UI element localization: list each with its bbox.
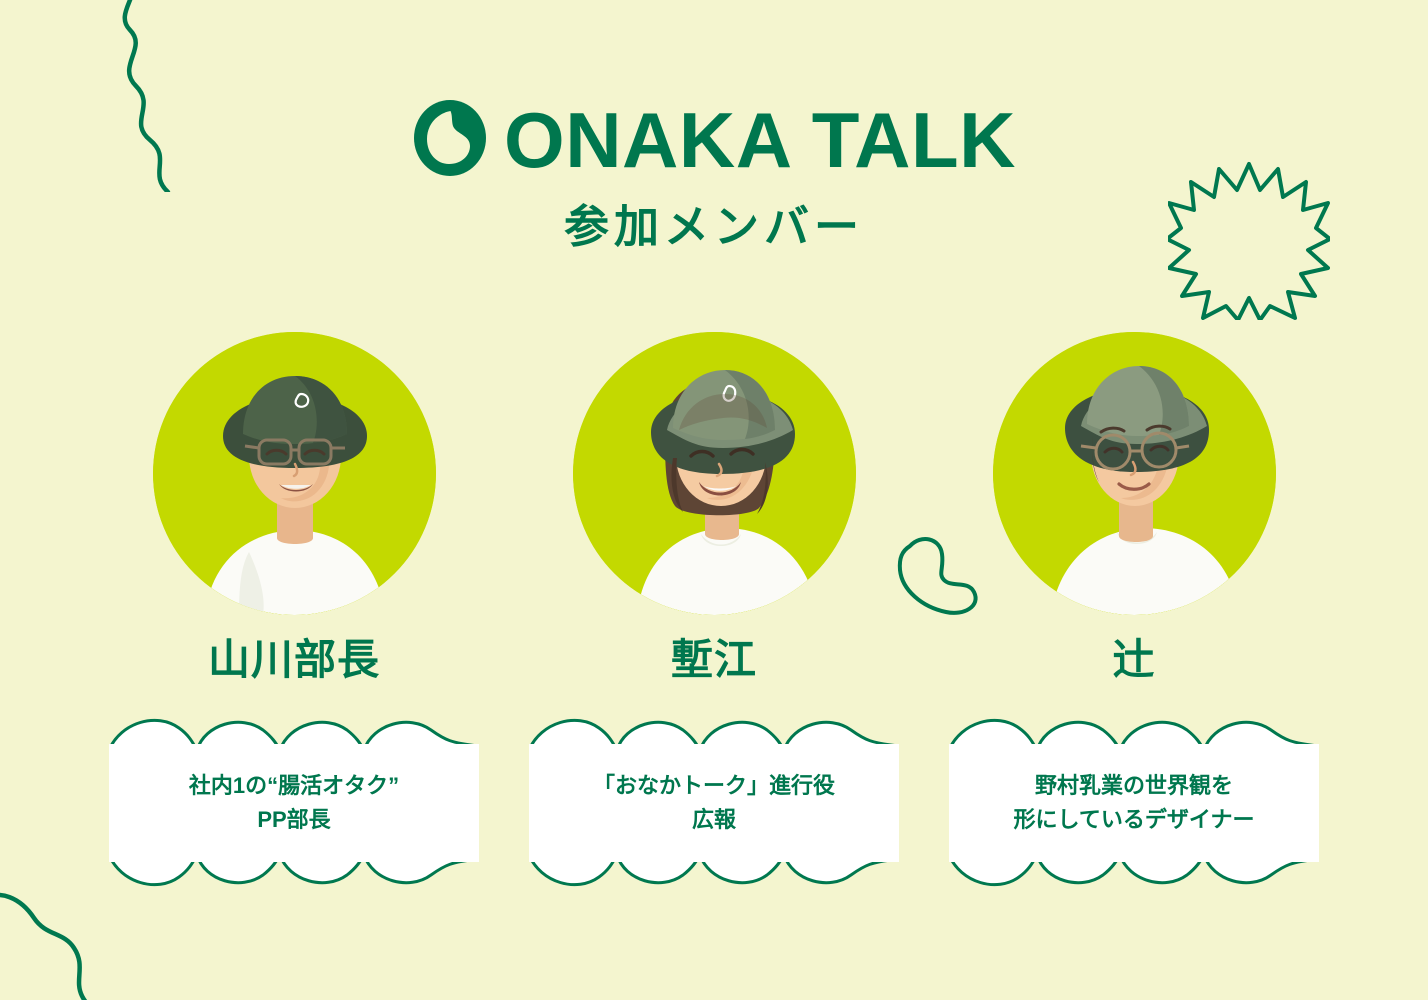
member-card: 山川部長 社内1の“腸活オタク” PP部長 — [153, 332, 436, 891]
onaka-circle-drop-logo-icon — [412, 98, 488, 183]
member-avatar — [573, 332, 856, 615]
member-description-line: 野村乳業の世界観を — [1035, 772, 1233, 800]
member-avatar — [993, 332, 1276, 615]
member-description-line: 形にしているデザイナー — [1014, 806, 1255, 834]
member-description-line: PP部長 — [257, 806, 330, 834]
member-description: 「おなかトーク」進行役 広報 — [529, 714, 899, 891]
brand-logo: ONAKA TALK — [0, 98, 1428, 182]
member-description-bubble: 「おなかトーク」進行役 広報 — [529, 714, 899, 891]
member-card: 辻 野村乳業の世界観を 形にしているデザイナー — [993, 332, 1276, 891]
member-description-line: 「おなかトーク」進行役 — [593, 772, 835, 800]
member-name: 辻 — [1112, 639, 1155, 681]
member-name: 山川部長 — [208, 639, 380, 681]
member-description: 社内1の“腸活オタク” PP部長 — [109, 714, 479, 891]
wave-line-bottom-left-icon — [0, 880, 128, 1000]
member-avatar — [153, 332, 436, 615]
member-description: 野村乳業の世界観を 形にしているデザイナー — [949, 714, 1319, 891]
brand-wordmark: ONAKA TALK — [504, 101, 1016, 179]
member-description-line: 社内1の“腸活オタク” — [189, 772, 399, 800]
member-description-line: 広報 — [692, 806, 736, 834]
page-subtitle: 参加メンバー — [0, 204, 1428, 249]
member-description-bubble: 社内1の“腸活オタク” PP部長 — [109, 714, 479, 891]
onaka-talk-members-page: ONAKA TALK 参加メンバー — [0, 0, 1428, 1000]
member-description-bubble: 野村乳業の世界観を 形にしているデザイナー — [949, 714, 1319, 891]
member-name: 塹江 — [671, 639, 757, 681]
page-header: ONAKA TALK 参加メンバー — [0, 0, 1428, 249]
member-card: 塹江 「おなかトーク」進行役 広報 — [573, 332, 856, 891]
member-list: 山川部長 社内1の“腸活オタク” PP部長 — [0, 332, 1428, 891]
